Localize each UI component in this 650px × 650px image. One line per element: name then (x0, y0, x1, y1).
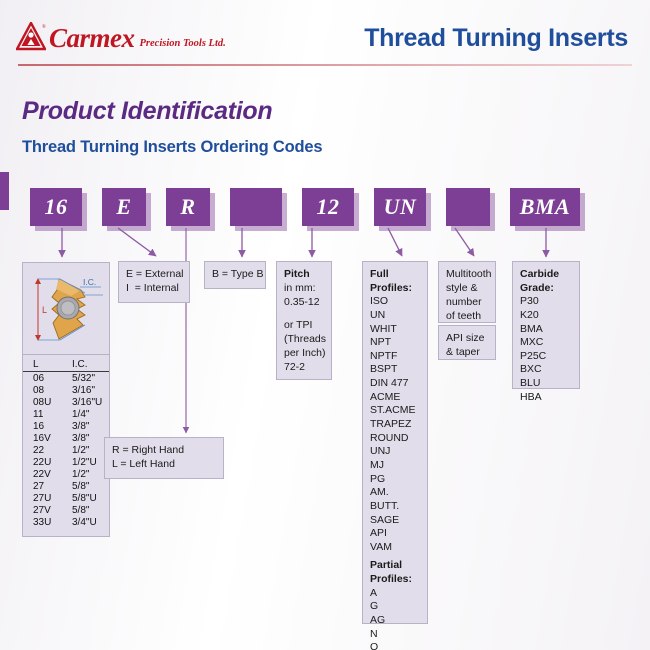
carbide-heading-1: Grade: (520, 282, 572, 296)
code-chip-un[interactable]: UN (374, 188, 426, 226)
cell-l: 27V (23, 504, 66, 516)
table-row: 08U3/16"U (23, 396, 109, 408)
insert-figure-box: L I.C. (22, 262, 110, 355)
brand-logo: ® Carmex Precision Tools Ltd. (16, 22, 226, 52)
list-item: API (370, 527, 420, 541)
list-item: VAM (370, 541, 420, 555)
rl-line-1: L = Left Hand (112, 458, 216, 472)
list-item: ST.ACME (370, 404, 420, 418)
cell-l: 27 (23, 480, 66, 492)
table-row: 065/32" (23, 372, 109, 385)
code-chip-bma[interactable]: BMA (510, 188, 580, 226)
pitch-tpi-2: per Inch) (284, 347, 324, 361)
list-item: G (370, 600, 420, 614)
list-item: BLU (520, 377, 572, 391)
left-accent-tab (0, 172, 9, 210)
cell-ic: 1/2" (66, 444, 109, 456)
cell-l: 33U (23, 516, 66, 528)
table-row: 275/8" (23, 480, 109, 492)
table-header-row: L I.C. (23, 359, 109, 372)
dimension-table-box: L I.C. 065/32"083/16"08U3/16"U111/4"163/… (22, 355, 110, 537)
list-item: TRAPEZ (370, 418, 420, 432)
cell-l: 27U (23, 492, 66, 504)
profiles-box: Full Profiles: ISOUNWHITNPTNPTFBSPTDIN 4… (362, 261, 428, 624)
list-item: BSPT (370, 363, 420, 377)
list-item: P30 (520, 295, 572, 309)
table-row: 111/4" (23, 408, 109, 420)
brand-tagline: Precision Tools Ltd. (140, 38, 226, 49)
cell-ic: 1/2"U (66, 456, 109, 468)
list-item: UNJ (370, 445, 420, 459)
page-header: ® Carmex Precision Tools Ltd. Thread Tur… (0, 0, 650, 72)
pitch-tpi-3: 72-2 (284, 361, 324, 375)
type-b-box: B = Type B (204, 261, 266, 289)
table-row: 221/2" (23, 444, 109, 456)
threading-insert-icon: L I.C. (23, 263, 109, 354)
list-item: UN (370, 309, 420, 323)
cell-l: 22V (23, 468, 66, 480)
pitch-heading: Pitch (284, 268, 324, 282)
code-chip-16[interactable]: 16 (30, 188, 82, 226)
svg-text:®: ® (42, 24, 46, 30)
header-divider (18, 64, 632, 66)
list-item: WHIT (370, 323, 420, 337)
partial-profiles-heading-1: Profiles: (370, 573, 420, 587)
carbide-grade-list: P30K20BMAMXCP25CBXCBLUHBA (520, 295, 572, 404)
cell-l: 16V (23, 432, 66, 444)
list-item: MXC (520, 336, 572, 350)
list-item: BMA (520, 323, 572, 337)
rl-line-0: R = Right Hand (112, 444, 216, 458)
list-item: ACME (370, 391, 420, 405)
pitch-tpi-0: or TPI (284, 319, 324, 333)
list-item: HBA (520, 391, 572, 405)
cell-ic: 3/16" (66, 384, 109, 396)
page-root: ® Carmex Precision Tools Ltd. Thread Tur… (0, 0, 650, 650)
code-chip-r[interactable]: R (166, 188, 210, 226)
pitch-line-0: in mm: (284, 282, 324, 296)
cell-l: 08U (23, 396, 66, 408)
cell-ic: 3/4"U (66, 516, 109, 528)
cell-ic: 3/16"U (66, 396, 109, 408)
table-row: 22U1/2"U (23, 456, 109, 468)
api-line-1: & taper (446, 346, 488, 360)
page-title: Thread Turning Inserts (364, 24, 628, 53)
hand-line-1: I = Internal (126, 282, 182, 296)
code-chip-e[interactable]: E (102, 188, 146, 226)
multitooth-line-2: number (446, 296, 488, 310)
cell-l: 11 (23, 408, 66, 420)
pitch-spacer (284, 310, 324, 319)
cell-l: 06 (23, 372, 66, 385)
cell-l: 22 (23, 444, 66, 456)
table-row: 27V5/8" (23, 504, 109, 516)
column-header-l: L (23, 359, 66, 372)
list-item: NPT (370, 336, 420, 350)
brand-name: Carmex (49, 25, 135, 52)
column-header-ic: I.C. (66, 359, 109, 372)
table-row: 33U3/4"U (23, 516, 109, 528)
section-title-product-identification: Product Identification (22, 97, 272, 126)
full-profiles-heading-1: Profiles: (370, 282, 420, 296)
full-profiles-list: ISOUNWHITNPTNPTFBSPTDIN 477ACMEST.ACMETR… (370, 295, 420, 554)
cell-l: 16 (23, 420, 66, 432)
partial-profiles-list: AGAGNQU (370, 587, 420, 650)
cell-l: 22U (23, 456, 66, 468)
list-item: N (370, 628, 420, 642)
carmex-triangle-logo-icon: ® (16, 22, 46, 52)
cell-ic: 1/2" (66, 468, 109, 480)
carbide-grade-box: Carbide Grade: P30K20BMAMXCP25CBXCBLUHBA (512, 261, 580, 389)
table-row: 27U5/8"U (23, 492, 109, 504)
cell-ic: 5/8"U (66, 492, 109, 504)
pitch-line-1: 0.35-12 (284, 296, 324, 310)
dimension-table: L I.C. 065/32"083/16"08U3/16"U111/4"163/… (23, 359, 109, 528)
table-row: 22V1/2" (23, 468, 109, 480)
table-row: 083/16" (23, 384, 109, 396)
cell-l: 08 (23, 384, 66, 396)
multitooth-line-0: Multitooth (446, 268, 488, 282)
list-item: BXC (520, 363, 572, 377)
list-item: MJ (370, 459, 420, 473)
code-chip-blank-3[interactable] (230, 188, 282, 226)
list-item: SAGE (370, 514, 420, 528)
right-left-hand-box: R = Right Hand L = Left Hand (104, 437, 224, 479)
cell-ic: 5/32" (66, 372, 109, 385)
cell-ic: 5/8" (66, 504, 109, 516)
list-item: Q (370, 641, 420, 650)
list-item: A (370, 587, 420, 601)
code-chip-blank-6[interactable] (446, 188, 490, 226)
cell-ic: 3/8" (66, 432, 109, 444)
api-size-box: API size & taper (438, 325, 496, 360)
pitch-tpi-1: (Threads (284, 333, 324, 347)
list-item: PG (370, 473, 420, 487)
cell-ic: 5/8" (66, 480, 109, 492)
multitooth-line-3: of teeth (446, 310, 488, 324)
list-item: AM. BUTT. (370, 486, 420, 513)
list-item: DIN 477 (370, 377, 420, 391)
table-row: 16V3/8" (23, 432, 109, 444)
cell-ic: 1/4" (66, 408, 109, 420)
list-item: P25C (520, 350, 572, 364)
hand-line-0: E = External (126, 268, 182, 282)
api-line-0: API size (446, 332, 488, 346)
list-item: AG (370, 614, 420, 628)
list-item: ISO (370, 295, 420, 309)
cell-ic: 3/8" (66, 420, 109, 432)
section-subtitle-ordering-codes: Thread Turning Inserts Ordering Codes (22, 138, 322, 157)
external-internal-box: E = External I = Internal (118, 261, 190, 303)
table-row: 163/8" (23, 420, 109, 432)
list-item: K20 (520, 309, 572, 323)
insert-dim-ic-label: I.C. (83, 277, 96, 287)
pitch-box: Pitch in mm: 0.35-12 or TPI (Threads per… (276, 261, 332, 380)
insert-dim-l-label: L (42, 305, 47, 315)
multitooth-box: Multitooth style & number of teeth (438, 261, 496, 323)
list-item: NPTF (370, 350, 420, 364)
list-item: ROUND (370, 432, 420, 446)
code-chip-12[interactable]: 12 (302, 188, 354, 226)
partial-profiles-heading-0: Partial (370, 559, 420, 573)
full-profiles-heading-0: Full (370, 268, 420, 282)
carbide-heading-0: Carbide (520, 268, 572, 282)
type-line-0: B = Type B (212, 268, 258, 282)
multitooth-line-1: style & (446, 282, 488, 296)
